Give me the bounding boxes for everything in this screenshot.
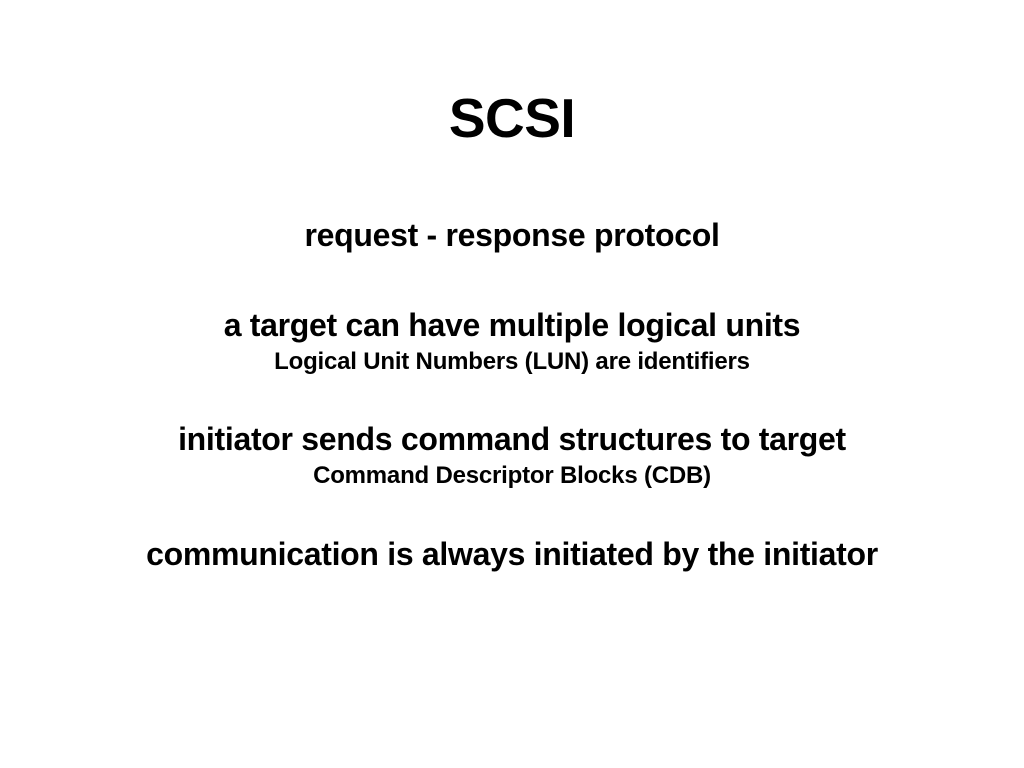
content-line-minor: Command Descriptor Blocks (CDB) xyxy=(0,461,1024,491)
content-line-major: a target can have multiple logical units xyxy=(0,305,1024,345)
content-line-minor: Logical Unit Numbers (LUN) are identifie… xyxy=(0,347,1024,377)
content-line-major: initiator sends command structures to ta… xyxy=(0,419,1024,459)
content-line-major: communication is always initiated by the… xyxy=(0,534,1024,574)
content-block-protocol: request - response protocol xyxy=(0,215,1024,255)
content-block-lun: a target can have multiple logical units… xyxy=(0,305,1024,377)
content-block-communication: communication is always initiated by the… xyxy=(0,534,1024,574)
slide-title: SCSI xyxy=(0,88,1024,148)
presentation-slide: SCSI request - response protocol a targe… xyxy=(0,0,1024,768)
content-block-cdb: initiator sends command structures to ta… xyxy=(0,419,1024,491)
content-line-major: request - response protocol xyxy=(0,215,1024,255)
